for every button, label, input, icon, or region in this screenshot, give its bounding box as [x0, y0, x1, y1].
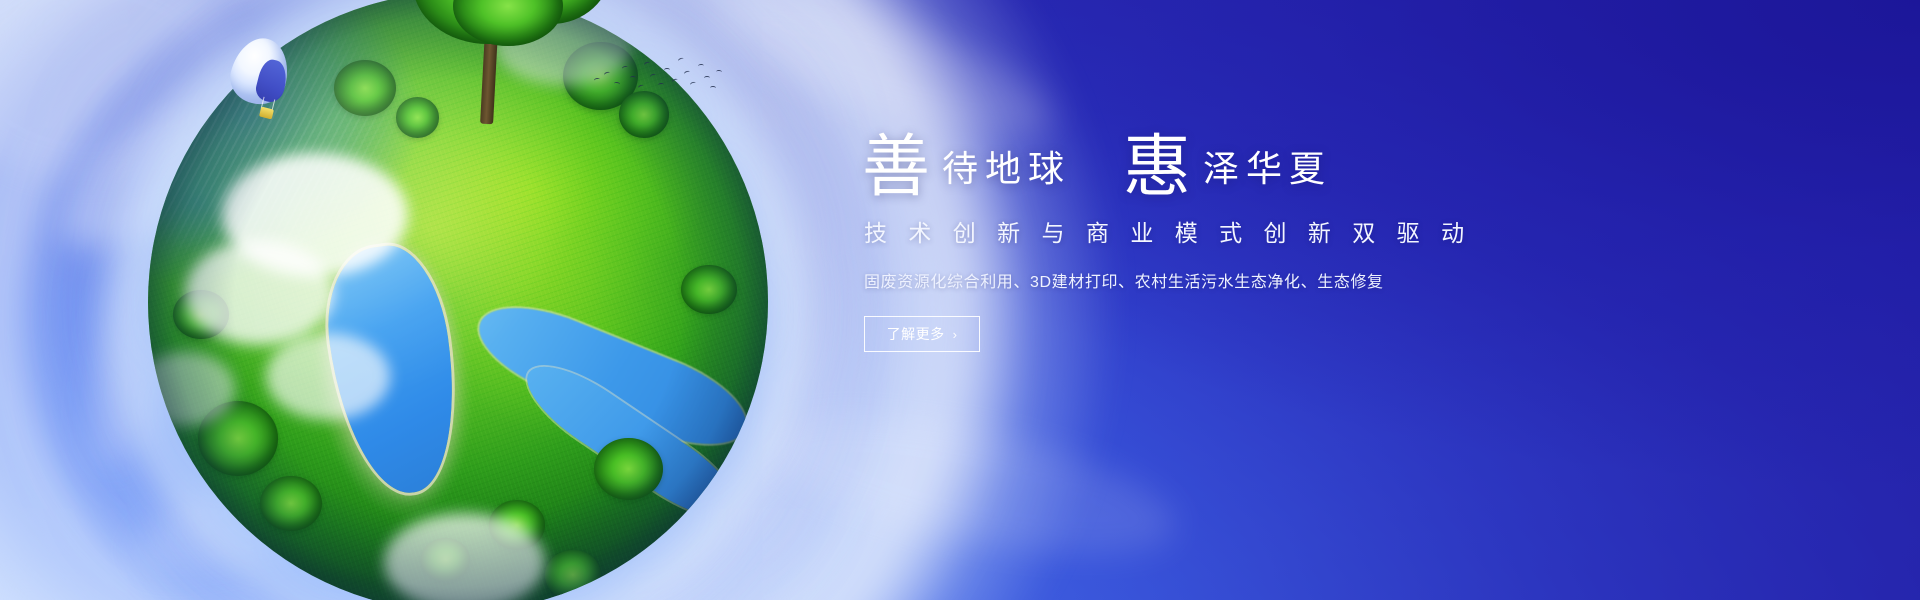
hero-banner: 善 待地球 惠 泽华夏 技 术 创 新 与 商 业 模 式 创 新 双 驱 动 … — [0, 0, 1920, 600]
headline-text-1: 待地球 — [930, 152, 1071, 188]
balloon-basket — [259, 107, 274, 120]
bird-icon — [643, 61, 650, 67]
bird-icon — [614, 82, 621, 87]
bird-icon — [698, 64, 704, 68]
headline-char-primary-2: 惠 — [1123, 134, 1191, 202]
bird-icon — [671, 78, 678, 84]
bird-icon — [677, 57, 684, 63]
birds-flock-icon — [592, 52, 718, 94]
bird-icon — [658, 83, 664, 87]
bird-icon — [594, 77, 601, 82]
headline-text-2: 泽华夏 — [1191, 152, 1332, 188]
bird-icon — [630, 76, 636, 80]
hot-air-balloon-icon — [232, 38, 288, 124]
learn-more-button[interactable]: 了解更多 › — [864, 316, 980, 352]
bird-icon — [622, 65, 629, 70]
bird-icon — [664, 68, 670, 72]
hero-tagline: 技 术 创 新 与 商 业 模 式 创 新 双 驱 动 — [864, 214, 1562, 248]
headline-char-primary-1: 善 — [862, 134, 930, 202]
hero-copy-block: 善 待地球 惠 泽华夏 技 术 创 新 与 商 业 模 式 创 新 双 驱 动 … — [862, 128, 1562, 352]
bird-icon — [704, 76, 710, 80]
chevron-right-icon: › — [953, 327, 958, 342]
bird-icon — [637, 84, 644, 90]
bird-icon — [716, 70, 722, 74]
bird-icon — [710, 86, 716, 90]
learn-more-label: 了解更多 — [887, 324, 945, 344]
hero-description: 固废资源化综合利用、3D建材打印、农村生活污水生态净化、生态修复 — [864, 268, 1562, 292]
page-title: 善 待地球 惠 泽华夏 — [862, 128, 1562, 196]
bird-icon — [683, 70, 690, 76]
bird-icon — [690, 81, 697, 87]
bird-icon — [603, 71, 610, 77]
bird-icon — [650, 73, 657, 79]
